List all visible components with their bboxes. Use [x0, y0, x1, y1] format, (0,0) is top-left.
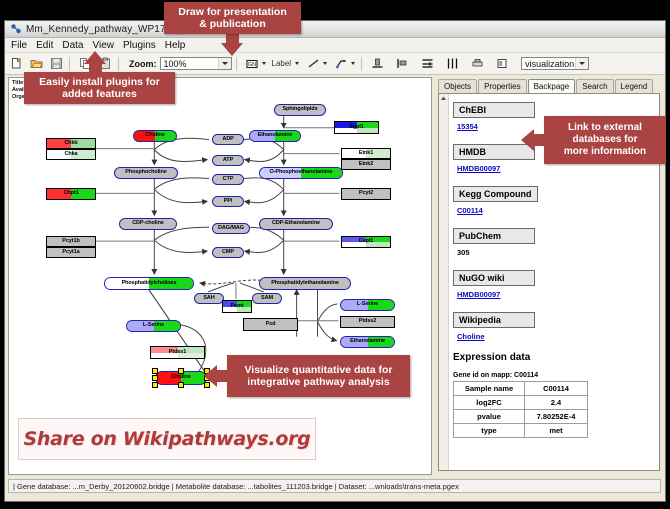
selection-handle[interactable]: [152, 382, 158, 388]
pathway-node-sgpl1[interactable]: Sgpl1: [334, 121, 379, 134]
node-label: CDP-choline: [132, 221, 164, 227]
pathway-node-etnk1[interactable]: Etnk1: [341, 148, 391, 159]
share-text: Share on Wikipathways.org: [24, 428, 311, 450]
selection-handle[interactable]: [178, 382, 184, 388]
svg-text:GN: GN: [248, 62, 256, 68]
new-icon[interactable]: [8, 55, 25, 72]
node-label: DAG/MAG: [218, 226, 244, 232]
node-label: Ethanolamine: [258, 133, 293, 139]
interaction-tool-icon[interactable]: [333, 55, 350, 72]
zoom-value: 100%: [161, 59, 218, 69]
node-label: Etnk1: [359, 151, 373, 157]
db-link-kegg[interactable]: C00114: [457, 206, 653, 215]
pathway-node-sphingolipids[interactable]: Sphingolipids: [274, 104, 326, 116]
callout-plugins: Easily install plugins for added feature…: [24, 72, 175, 104]
db-header-chebi: ChEBI: [453, 102, 535, 118]
expression-data-heading: Expression data: [453, 352, 653, 363]
node-label: SAM: [261, 296, 273, 302]
menu-plugins[interactable]: Plugins: [123, 40, 156, 51]
visualization-combo[interactable]: visualization: [521, 57, 589, 70]
title-bar: Mm_Kennedy_pathway_WP1771_45176.gpml: [5, 21, 665, 38]
toolbar-separator-1: [69, 57, 70, 71]
visualization-value: visualization: [522, 59, 575, 69]
table-row: log2FC 2.4: [454, 396, 588, 410]
node-label: CDP-Ethanolamine: [272, 221, 320, 227]
db-link-nugo[interactable]: HMDB00097: [457, 290, 653, 299]
pathway-node-cept1[interactable]: Cept1: [341, 236, 391, 248]
pathvisio-icon: [10, 23, 22, 35]
toolbar-separator-4: [361, 57, 362, 71]
node-label: Phosphocholine: [125, 170, 166, 176]
expr-val-type: met: [525, 424, 588, 438]
distribute-vertical-icon[interactable]: [419, 55, 436, 72]
pathway-node-o-phosphoethanolamine[interactable]: O-Phosphoethanolamine: [259, 167, 343, 179]
callout-draw-arrow-icon: [221, 43, 243, 56]
label-chevron-icon[interactable]: [295, 62, 299, 65]
callout-draw-line1: Draw for presentation: [178, 6, 287, 18]
line-tool-icon[interactable]: [305, 55, 322, 72]
selection-handle[interactable]: [178, 368, 184, 374]
callout-visualize: Visualize quantitative data for integrat…: [227, 355, 410, 397]
pathway-canvas[interactable]: Title: Availab Organi: [8, 77, 432, 475]
toolbar-separator-3: [236, 57, 237, 71]
node-label: CMP: [222, 250, 234, 256]
db-header-pubchem: PubChem: [453, 228, 535, 244]
pathway-node-choline-top[interactable]: Choline: [133, 130, 177, 142]
selection-handle[interactable]: [152, 375, 158, 381]
node-label: Pcyt1b: [62, 239, 79, 245]
expr-key-sample: Sample name: [454, 382, 525, 396]
node-label: Ethanolamine: [350, 339, 385, 345]
zoom-label: Zoom:: [129, 59, 157, 69]
chevron-down-icon[interactable]: [218, 58, 231, 69]
callout-links-line2: databases for: [572, 134, 637, 146]
share-banner: Share on Wikipathways.org: [18, 418, 316, 460]
node-label: Chpt1: [63, 191, 78, 197]
align-bottom-icon[interactable]: [369, 55, 386, 72]
pathway-node-pcyt2[interactable]: Pcyt2: [341, 188, 391, 200]
pathway-node-psd[interactable]: Psd: [243, 318, 298, 331]
pathway-node-sam[interactable]: SAM: [252, 293, 282, 304]
toolbar-separator-2: [118, 57, 119, 71]
node-label: L-Serine: [143, 323, 164, 329]
status-bar: | Gene database: ...m_Derby_20120602.bri…: [8, 479, 661, 493]
pathway-node-l-serine-right[interactable]: L-Serine: [340, 299, 395, 311]
pathway-node-ptdss1[interactable]: Ptdss1: [150, 346, 205, 359]
node-label: SAH: [203, 296, 214, 302]
node-label: Etnk2: [359, 162, 373, 168]
datanode-icon[interactable]: GN: [244, 55, 261, 72]
menu-help[interactable]: Help: [165, 40, 186, 51]
pathway-node-cdp-ethanolamine[interactable]: CDP-Ethanolamine: [259, 218, 333, 230]
expr-val-log2fc: 2.4: [525, 396, 588, 410]
pathway-node-l-serine-left[interactable]: L-Serine: [126, 320, 181, 332]
selection-handle[interactable]: [152, 368, 158, 374]
backpage-scrollbar[interactable]: [439, 94, 449, 470]
node-label: Chkb: [64, 141, 77, 147]
node-label: Pcyt2: [359, 191, 373, 197]
status-text: | Gene database: ...m_Derby_20120602.bri…: [13, 482, 459, 491]
pathway-node-ethanolamine-top[interactable]: Ethanolamine: [249, 130, 301, 142]
node-label: Choline: [171, 375, 190, 381]
pathway-node-chpt1[interactable]: Chpt1: [46, 188, 96, 200]
db-header-wikipedia: Wikipedia: [453, 312, 535, 328]
node-label: Ptdss1: [169, 350, 186, 356]
callout-draw: Draw for presentation & publication: [164, 2, 301, 34]
expression-table: Sample name C00114 log2FC 2.4 pvalue 7.8…: [453, 381, 588, 438]
callout-links-line1: Link to external: [568, 122, 642, 134]
callout-visualize-line1: Visualize quantitative data for: [244, 364, 392, 376]
node-label: Pcyt1a: [62, 250, 79, 256]
save-icon[interactable]: [48, 55, 65, 72]
pathway-node-atp[interactable]: ATP: [212, 155, 244, 166]
scroll-up-icon[interactable]: [439, 94, 448, 103]
pathway-node-ethanolamine-right[interactable]: Ethanolamine: [340, 336, 395, 348]
order-icon[interactable]: [494, 55, 511, 72]
tab-properties[interactable]: Properties: [478, 79, 526, 93]
node-label: L-Serine: [357, 302, 378, 308]
pathway-node-chkb[interactable]: Chkb: [46, 138, 96, 149]
node-label: Sgpl1: [349, 125, 363, 131]
callout-plugins-line2: added features: [62, 88, 137, 100]
pathway-node-dagmag[interactable]: DAG/MAG: [212, 223, 250, 234]
table-row: pvalue 7.80252E-4: [454, 410, 588, 424]
callout-links-arrow-icon: [521, 129, 534, 151]
side-panel-tabs[interactable]: Objects Properties Backpage Search Legen…: [434, 77, 664, 93]
open-icon[interactable]: [28, 55, 45, 72]
node-label: Sphingolipids: [282, 107, 317, 113]
pathway-node-ptdss2[interactable]: Ptdss2: [340, 316, 395, 328]
pathway-node-pcyt1a[interactable]: Pcyt1a: [46, 247, 96, 258]
table-row: Sample name C00114: [454, 382, 588, 396]
node-label: Cept1: [359, 239, 374, 245]
node-label: ATP: [223, 158, 233, 164]
node-label: Phosphatidylethanolamine: [271, 281, 339, 287]
callout-visualize-line2: integrative pathway analysis: [247, 376, 389, 388]
pathway-node-cmp[interactable]: CMP: [212, 247, 244, 258]
distribute-horizontal-icon[interactable]: [444, 55, 461, 72]
pathway-node-ppi[interactable]: PPi: [212, 196, 244, 207]
tab-search[interactable]: Search: [576, 79, 613, 93]
pathway-node-adp[interactable]: ADP: [212, 134, 244, 145]
pathway-node-ctp[interactable]: CTP: [212, 174, 244, 185]
node-label: Ptdss2: [359, 319, 376, 325]
expr-val-sample: C00114: [525, 382, 588, 396]
pathway-node-phosphatidylethanolamine[interactable]: Phosphatidylethanolamine: [259, 277, 351, 290]
datanode-chevron-icon[interactable]: [262, 62, 266, 65]
tab-legend[interactable]: Legend: [615, 79, 654, 93]
zoom-combo[interactable]: 100%: [160, 57, 232, 70]
callout-draw-line2: & publication: [199, 18, 266, 30]
tab-backpage[interactable]: Backpage: [528, 79, 576, 94]
menu-data[interactable]: Data: [62, 40, 83, 51]
callout-links-line3: more information: [564, 146, 646, 158]
interaction-chevron-icon[interactable]: [351, 62, 355, 65]
gene-id-line: Gene id on mapp: C00114: [453, 372, 653, 379]
table-row: type met: [454, 424, 588, 438]
node-label: CTP: [223, 177, 234, 183]
callout-plugins-line1: Easily install plugins for: [39, 76, 160, 88]
menu-edit[interactable]: Edit: [36, 40, 53, 51]
pathway-node-sah[interactable]: SAH: [194, 293, 224, 304]
label-tool-label[interactable]: Label: [272, 59, 292, 68]
pathway-node-phosphocholine[interactable]: Phosphocholine: [114, 167, 178, 179]
pathway-node-etnk2[interactable]: Etnk2: [341, 159, 391, 170]
node-label: Psd: [266, 322, 276, 328]
stack-icon[interactable]: [469, 55, 486, 72]
node-label: Choline: [145, 133, 164, 139]
line-chevron-icon[interactable]: [323, 62, 327, 65]
node-label: PPi: [224, 199, 233, 205]
pathway-node-pemt[interactable]: Pemt: [222, 300, 252, 313]
db-value-pubchem: 305: [457, 248, 653, 257]
db-header-nugo: NuGO wiki: [453, 270, 535, 286]
menu-file[interactable]: File: [11, 40, 27, 51]
menu-view[interactable]: View: [92, 40, 114, 51]
screenshot-root: Mm_Kennedy_pathway_WP1771_45176.gpml Fil…: [0, 0, 670, 509]
node-label: ADP: [222, 137, 233, 143]
node-label: Chka: [64, 152, 77, 158]
pathway-node-chka[interactable]: Chka: [46, 149, 96, 160]
db-header-kegg: Kegg Compound: [453, 186, 538, 202]
callout-plugins-arrow-icon: [84, 51, 106, 64]
db-link-hmdb[interactable]: HMDB00097: [457, 164, 653, 173]
db-link-wikipedia[interactable]: Choline: [457, 332, 653, 341]
pathway-node-cdp-choline[interactable]: CDP-choline: [119, 218, 177, 230]
align-left-icon[interactable]: [394, 55, 411, 72]
visualization-chevron-icon[interactable]: [575, 58, 588, 69]
tab-objects[interactable]: Objects: [438, 79, 477, 93]
callout-links: Link to external databases for more info…: [544, 116, 666, 164]
node-label: Phosphatidylcholines: [122, 281, 177, 287]
expr-key-log2fc: log2FC: [454, 396, 525, 410]
pathway-node-pcyt1b[interactable]: Pcyt1b: [46, 236, 96, 247]
node-label: Pemt: [230, 304, 243, 310]
expr-key-pvalue: pvalue: [454, 410, 525, 424]
expr-val-pvalue: 7.80252E-4: [525, 410, 588, 424]
expr-key-type: type: [454, 424, 525, 438]
callout-visualize-arrow-icon: [204, 365, 217, 387]
pathway-node-phosphatidylcholines[interactable]: Phosphatidylcholines: [104, 277, 194, 290]
node-label: O-Phosphoethanolamine: [270, 170, 333, 176]
